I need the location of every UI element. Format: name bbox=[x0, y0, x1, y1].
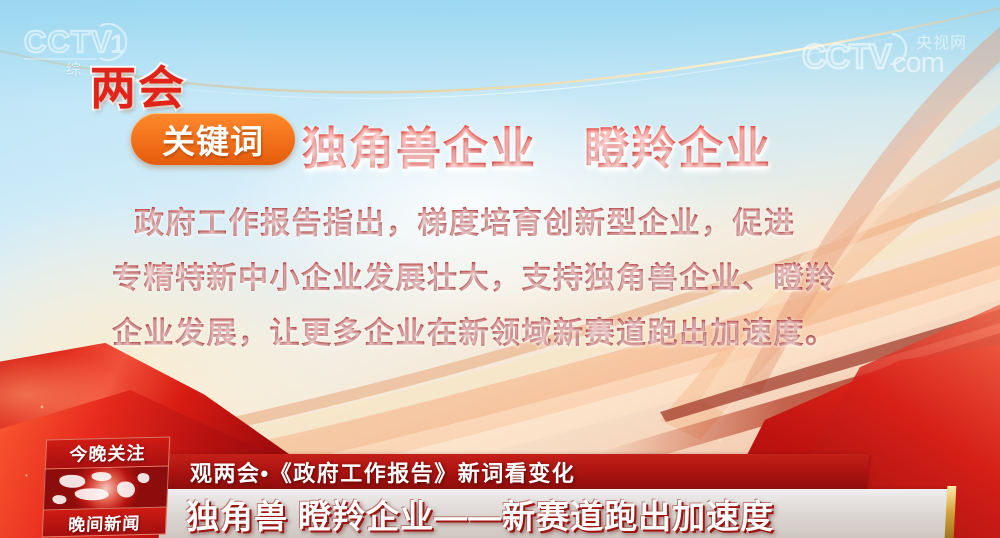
svg-text:央视网: 央视网 bbox=[916, 34, 967, 52]
bug-bottom-label: 晚间新闻 bbox=[68, 509, 141, 536]
ticker-headline-bar: 独角兽 瞪羚企业——新赛道跑出加速度 bbox=[159, 489, 952, 538]
quote-paragraph: 政府工作报告指出，梯度培育创新型企业，促进 专精特新中小企业发展壮大，支持独角兽… bbox=[112, 196, 902, 361]
bug-top-label: 今晚关注 bbox=[69, 439, 146, 467]
program-tag-lianghui: 两会 bbox=[90, 52, 186, 118]
ticker-headline-text: 独角兽 瞪羚企业——新赛道跑出加速度 bbox=[186, 490, 774, 538]
keyword-badge-label: 关键词 bbox=[162, 115, 264, 163]
channel-sub-label: 综 bbox=[66, 58, 82, 79]
ticker-subtitle-text: 观两会•《政府工作报告》新词看变化 bbox=[190, 456, 575, 488]
program-bug: 今晚关注 晚间新闻 bbox=[42, 436, 171, 537]
broadcast-frame: CCTV 1 综 CCTV com 央视网 两会 关键词 独角兽企业 瞪羚企业 … bbox=[0, 0, 1000, 538]
topic-headline: 独角兽企业 瞪羚企业 bbox=[302, 112, 772, 177]
quote-line-2: 专精特新中小企业发展壮大，支持独角兽企业、瞪羚 bbox=[112, 251, 902, 306]
svg-text:CCTV: CCTV bbox=[802, 38, 892, 76]
ticker-subtitle-bar: 观两会•《政府工作报告》新词看变化 bbox=[167, 454, 869, 490]
keyword-badge: 关键词 bbox=[131, 113, 295, 165]
bug-top-banner: 今晚关注 bbox=[45, 436, 171, 469]
bug-bottom-banner: 晚间新闻 bbox=[42, 506, 167, 537]
globe-icon bbox=[43, 466, 169, 509]
cctv-com-watermark: CCTV com 央视网 bbox=[800, 24, 978, 85]
quote-line-3: 企业发展，让更多企业在新领域新赛道跑出加速度。 bbox=[112, 306, 902, 361]
quote-line-1: 政府工作报告指出，梯度培育创新型企业，促进 bbox=[112, 196, 902, 251]
